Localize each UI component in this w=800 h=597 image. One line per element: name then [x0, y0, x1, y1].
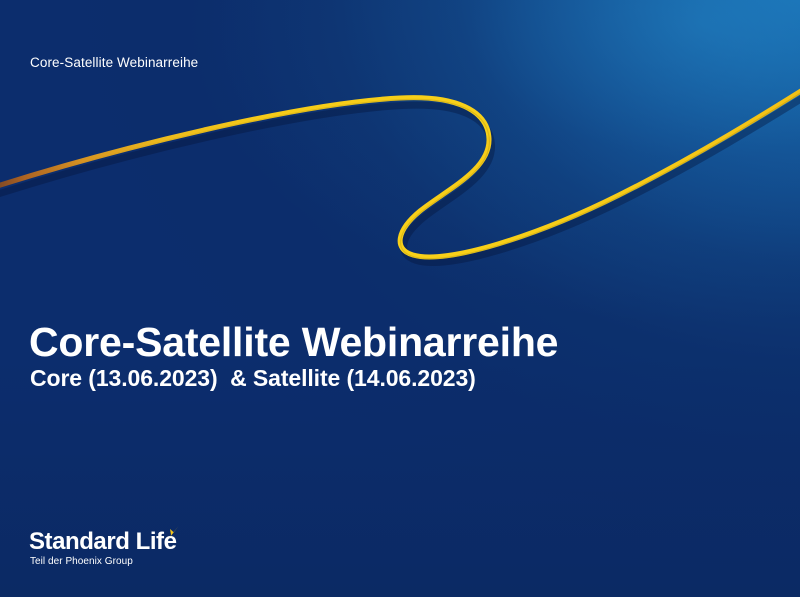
logo-wordmark: Standard Life: [29, 528, 177, 556]
page-title: Core-Satellite Webinarreihe: [29, 318, 558, 366]
yellow-arrow-mark-icon: [159, 523, 181, 547]
slide-eyebrow-label: Core-Satellite Webinarreihe: [30, 54, 198, 71]
background-floor-shade: [0, 0, 800, 597]
slide-subtitle: Core (13.06.2023) & Satellite (14.06.202…: [30, 363, 476, 393]
standard-life-logo: Standard Life Teil der Phoenix Group: [29, 528, 209, 576]
title-slide: Core-Satellite Webinarreihe Core-Satelli…: [0, 0, 800, 597]
logo-tagline: Teil der Phoenix Group: [30, 555, 133, 569]
